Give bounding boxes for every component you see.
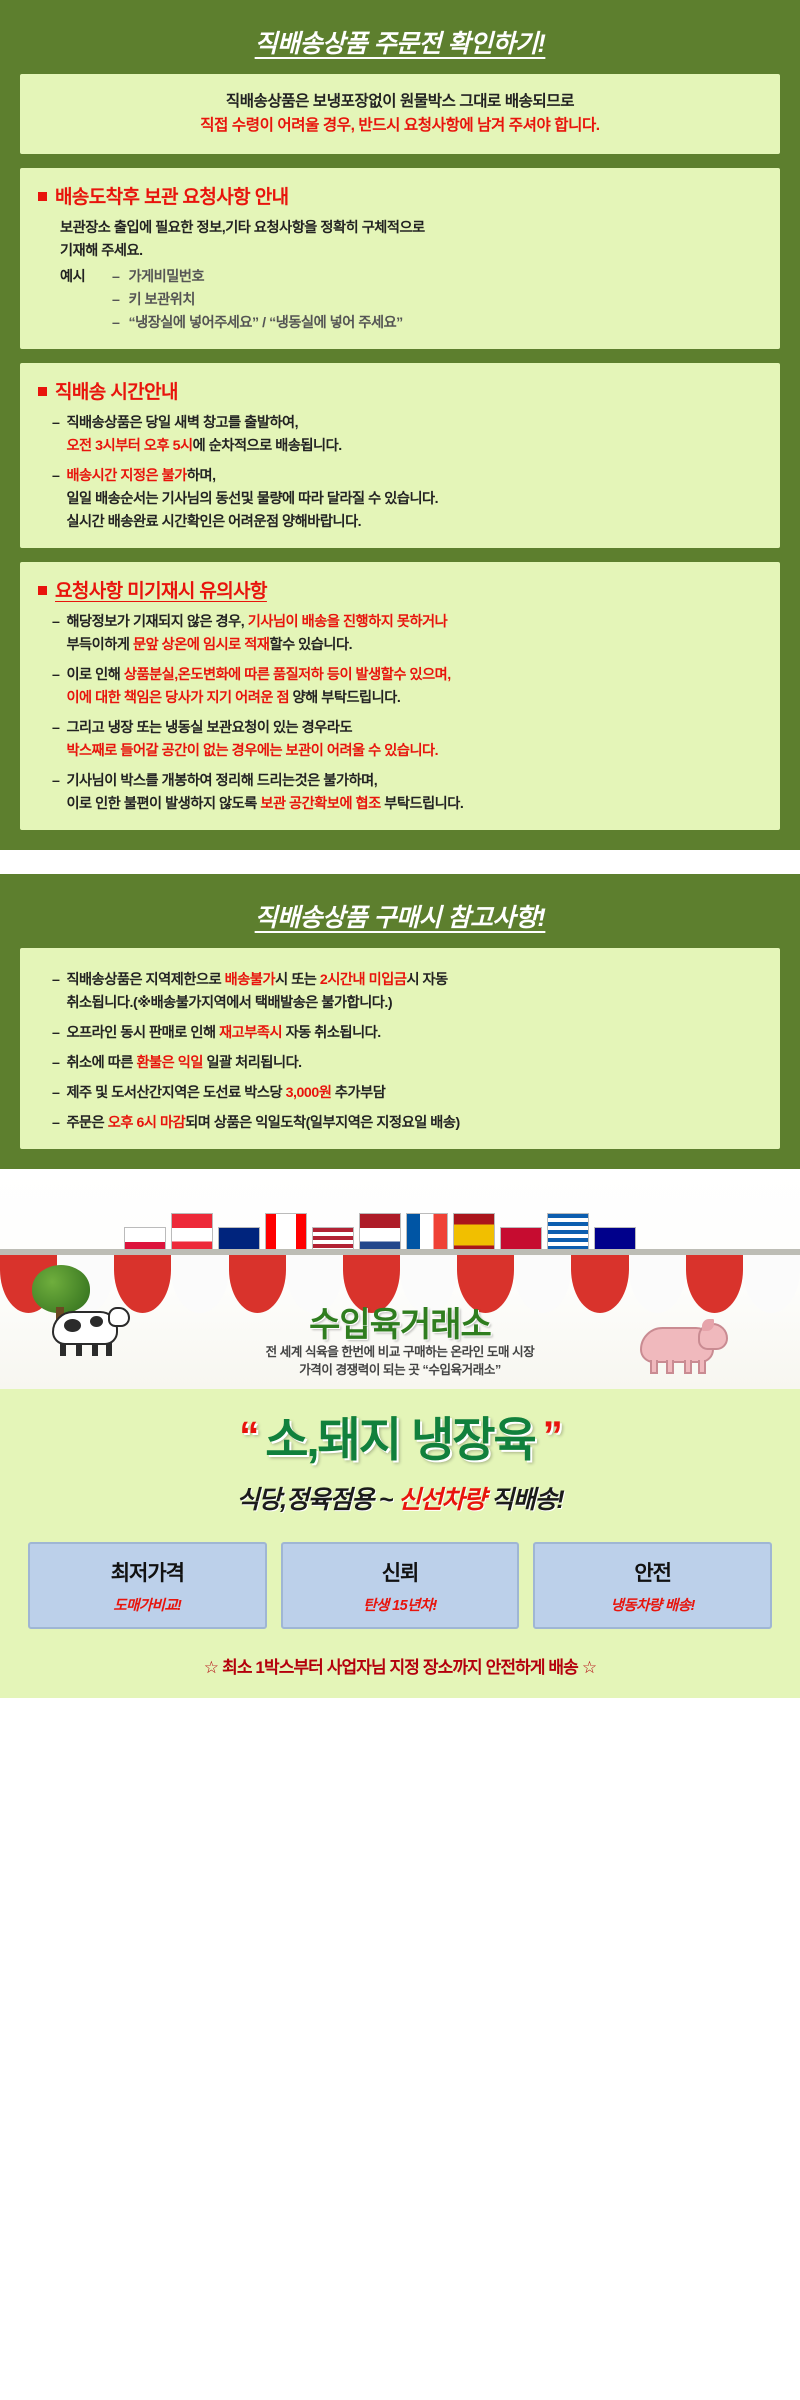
panel-separator: [0, 850, 800, 874]
storage-body-line-2: 기재해 주세요.: [38, 240, 762, 263]
purchase-note-item: – 주문은 오후 6시 마감되며 상품은 익일도착(일부지역은 지정요일 배송): [38, 1112, 762, 1135]
promo-footer-text: 최소 1박스부터 사업자님 지정 장소까지 안전하게 배송: [222, 1658, 578, 1677]
promo-section: “소,돼지 냉장육” 식당,정육점용 ~ 신선차량 직배송! 최저가격 도매가비…: [0, 1389, 800, 1698]
delivery-notice-panel: 직배송상품 주문전 확인하기! 직배송상품은 보냉포장없이 원물박스 그대로 배…: [0, 0, 800, 850]
dash-mark: –: [52, 664, 59, 710]
star-icon: ☆: [200, 1658, 222, 1677]
promo-sub-red: 신선차량: [398, 1486, 485, 1514]
brand-tagline-2: 가격이 경쟁력이 되는 곳 “수입육거래소”: [0, 1359, 800, 1378]
promo-sub-black-2: 직배송!: [491, 1486, 564, 1514]
time-item2-tail: 하며,: [187, 468, 216, 484]
purchase-note-item: – 제주 및 도서산간지역은 도선료 박스당 3,000원 추가부담: [38, 1082, 762, 1105]
dash-mark: –: [52, 1112, 59, 1135]
flag-row: [70, 1177, 690, 1257]
time-item2-red: 배송시간 지정은 불가: [66, 468, 186, 484]
warning-item: – 해당정보가 기재되지 않은 경우, 기사님이 배송을 진행하지 못하거나 부…: [38, 611, 762, 657]
purchase-notes-card: – 직배송상품은 지역제한으로 배송불가시 또는 2시간내 미입금시 자동 취소…: [20, 948, 780, 1149]
delivery-time-card: 직배송 시간안내 – 직배송상품은 당일 새벽 창고를 출발하여, 오전 3시부…: [20, 363, 780, 548]
feature-row: 최저가격 도매가비교! 신뢰 탄생 15년차! 안전 냉동차량 배송!: [20, 1542, 780, 1629]
feature-title: 신뢰: [289, 1557, 512, 1587]
square-bullet-icon: [38, 387, 47, 396]
storage-request-card: 배송도착후 보관 요청사항 안내 보관장소 출입에 필요한 정보,기타 요청사항…: [20, 168, 780, 349]
feature-sub: 냉동차량 배송!: [541, 1594, 764, 1615]
example-item: – 키 보관위치: [112, 289, 403, 312]
warning-item: – 그리고 냉장 또는 냉동실 보관요청이 있는 경우라도 박스째로 들어갈 공…: [38, 717, 762, 763]
dash-mark: –: [52, 611, 59, 657]
product-detail-page: 직배송상품 주문전 확인하기! 직배송상품은 보냉포장없이 원물박스 그대로 배…: [0, 0, 800, 2400]
dash-mark: –: [52, 770, 59, 816]
dash-mark: –: [52, 717, 59, 763]
delivery-time-item: – 직배송상품은 당일 새벽 창고를 출발하여, 오전 3시부터 오후 5시에 …: [38, 412, 762, 458]
warning-item: – 기사님이 박스를 개봉하여 정리해 드리는것은 불가하며, 이로 인한 불편…: [38, 770, 762, 816]
dash-mark: –: [52, 969, 59, 1015]
section1-title: 직배송상품 주문전 확인하기!: [20, 14, 780, 74]
promo-sub-black-1: 식당,정육점용 ~: [237, 1486, 393, 1514]
brand-name: 수입육거래소: [0, 1297, 800, 1346]
feature-box-lowest-price: 최저가격 도매가비교!: [28, 1542, 267, 1629]
delivery-time-item: – 배송시간 지정은 불가하며, 일일 배송순서는 기사님의 동선및 물량에 따…: [38, 465, 762, 534]
dash-mark: –: [52, 1022, 59, 1045]
feature-box-safety: 안전 냉동차량 배송!: [533, 1542, 772, 1629]
purchase-note-item: – 취소에 따른 환불은 익일 일괄 처리됩니다.: [38, 1052, 762, 1075]
warning-heading: 요청사항 미기재시 유의사항: [38, 576, 762, 603]
brand-tagline-1: 전 세계 식육을 한번에 비교 구매하는 온라인 도매 시장: [0, 1341, 800, 1360]
example-item: – “냉장실에 넣어주세요” / “냉동실에 넣어 주세요”: [112, 312, 403, 335]
delivery-time-heading: 직배송 시간안내: [38, 377, 762, 404]
time-item1-line1: 직배송상품은 당일 새벽 창고를 출발하여,: [66, 415, 298, 431]
brand-banner: 수입육거래소 전 세계 식육을 한번에 비교 구매하는 온라인 도매 시장 가격…: [0, 1169, 800, 1389]
example-item: – 가게비밀번호: [112, 266, 403, 289]
dash-mark: –: [112, 312, 119, 335]
storage-body-line-1: 보관장소 출입에 필요한 정보,기타 요청사항을 정확히 구체적으로: [38, 217, 762, 240]
star-icon: ☆: [578, 1658, 600, 1677]
dash-mark: –: [52, 1082, 59, 1105]
square-bullet-icon: [38, 192, 47, 201]
missing-request-warning-card: 요청사항 미기재시 유의사항 – 해당정보가 기재되지 않은 경우, 기사님이 …: [20, 562, 780, 830]
purchase-notice-panel: 직배송상품 구매시 참고사항! – 직배송상품은 지역제한으로 배송불가시 또는…: [0, 874, 800, 1169]
dash-mark: –: [112, 266, 119, 289]
intro-line-1: 직배송상품은 보냉포장없이 원물박스 그대로 배송되므로: [30, 90, 770, 114]
example-label: 예시: [60, 266, 112, 335]
promo-headline: “소,돼지 냉장육”: [20, 1415, 780, 1464]
dash-mark: –: [112, 289, 119, 312]
time-item2-line2: 일일 배송순서는 기사님의 동선및 물량에 따라 달라질 수 있습니다.: [66, 491, 438, 507]
storage-example-block: 예시 – 가게비밀번호 – 키 보관위치 – “냉장실에 넣어주세요” / “냉…: [38, 266, 762, 335]
section2-title: 직배송상품 구매시 참고사항!: [20, 888, 780, 948]
feature-title: 안전: [541, 1557, 764, 1587]
promo-footer: ☆최소 1박스부터 사업자님 지정 장소까지 안전하게 배송☆: [20, 1653, 780, 1678]
quote-open-icon: “: [231, 1414, 265, 1458]
example-list: – 가게비밀번호 – 키 보관위치 – “냉장실에 넣어주세요” / “냉동실에…: [112, 266, 403, 335]
warning-item: – 이로 인해 상품분실,온도변화에 따른 품질저하 등이 발생할수 있으며, …: [38, 664, 762, 710]
time-item1-red: 오전 3시부터 오후 5시: [66, 438, 192, 454]
dash-mark: –: [52, 412, 59, 458]
purchase-note-item: – 직배송상품은 지역제한으로 배송불가시 또는 2시간내 미입금시 자동 취소…: [38, 969, 762, 1015]
feature-title: 최저가격: [36, 1557, 259, 1587]
promo-subheadline: 식당,정육점용 ~ 신선차량 직배송!: [20, 1480, 780, 1516]
feature-box-trust: 신뢰 탄생 15년차!: [281, 1542, 520, 1629]
quote-close-icon: ”: [535, 1414, 569, 1458]
promo-headline-text: 소,돼지 냉장육: [265, 1413, 535, 1466]
feature-sub: 탄생 15년차!: [289, 1594, 512, 1615]
intro-card: 직배송상품은 보냉포장없이 원물박스 그대로 배송되므로 직접 수령이 어려울 …: [20, 74, 780, 154]
dash-mark: –: [52, 465, 59, 534]
intro-line-2: 직접 수령이 어려울 경우, 반드시 요청사항에 남겨 주셔야 합니다.: [30, 114, 770, 138]
square-bullet-icon: [38, 586, 47, 595]
purchase-note-item: – 오프라인 동시 판매로 인해 재고부족시 자동 취소됩니다.: [38, 1022, 762, 1045]
time-item1-tail: 에 순차적으로 배송됩니다.: [193, 438, 342, 454]
time-item2-line3: 실시간 배송완료 시간확인은 어려운점 양해바랍니다.: [66, 514, 361, 530]
dash-mark: –: [52, 1052, 59, 1075]
feature-sub: 도매가비교!: [36, 1594, 259, 1615]
storage-request-heading: 배송도착후 보관 요청사항 안내: [38, 182, 762, 209]
